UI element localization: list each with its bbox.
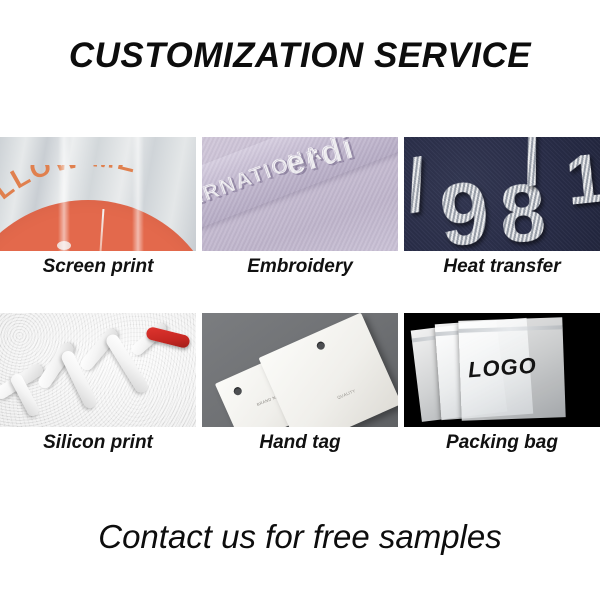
gallery-label-screen-print: Screen print <box>0 253 198 281</box>
gallery-label-hand-tag: Hand tag <box>200 429 400 457</box>
embroidery-photo: ERNATIONA erdi <box>202 137 398 251</box>
screen-print-photo: N'T FOLLOW ME <box>0 137 196 251</box>
hand-tag-photo: BRAND NAME QUALITY <box>202 313 398 427</box>
gallery-item-screen-print[interactable]: N'T FOLLOW ME Screen print <box>0 137 196 251</box>
svg-text:N'T FOLLOW ME: N'T FOLLOW ME <box>0 165 141 251</box>
fabric-noise-overlay <box>404 137 600 251</box>
zip-seal-3 <box>459 325 563 333</box>
customization-service-banner: CUSTOMIZATION SERVICE N'T FOLLOW ME <box>0 0 600 601</box>
heat-transfer-photo: / 9 8 / 1 <box>404 137 600 251</box>
gallery-label-silicon-print: Silicon print <box>0 429 198 457</box>
footer-cta-text: Contact us for free samples <box>0 518 600 556</box>
packing-bag-logo-text: LOGO <box>467 353 537 384</box>
gallery-item-embroidery[interactable]: ERNATIONA erdi Embroidery <box>202 137 398 251</box>
gallery-label-heat-transfer: Heat transfer <box>402 253 600 281</box>
hang-tag-hole-back <box>316 340 327 351</box>
gallery-label-embroidery: Embroidery <box>200 253 400 281</box>
gallery-item-silicon-print[interactable]: Silicon print <box>0 313 196 427</box>
silicon-print-photo <box>0 313 196 427</box>
hang-tag-hole-front <box>233 386 244 397</box>
gallery-label-packing-bag: Packing bag <box>402 429 600 457</box>
gallery-item-heat-transfer[interactable]: / 9 8 / 1 Heat transfer <box>404 137 600 251</box>
gallery-item-packing-bag[interactable]: LOGO Packing bag <box>404 313 600 427</box>
fabric-grain-overlay <box>202 137 398 251</box>
page-title: CUSTOMIZATION SERVICE <box>0 36 600 76</box>
gallery-item-hand-tag[interactable]: BRAND NAME QUALITY Hand tag <box>202 313 398 427</box>
packing-bag-photo: LOGO <box>404 313 600 427</box>
hang-tag-text-back: QUALITY <box>336 388 356 400</box>
curved-artwork-text: N'T FOLLOW ME <box>0 165 196 251</box>
artwork-knob <box>57 241 71 250</box>
service-gallery-grid: N'T FOLLOW ME Screen print ERNATIONA erd… <box>0 137 600 427</box>
